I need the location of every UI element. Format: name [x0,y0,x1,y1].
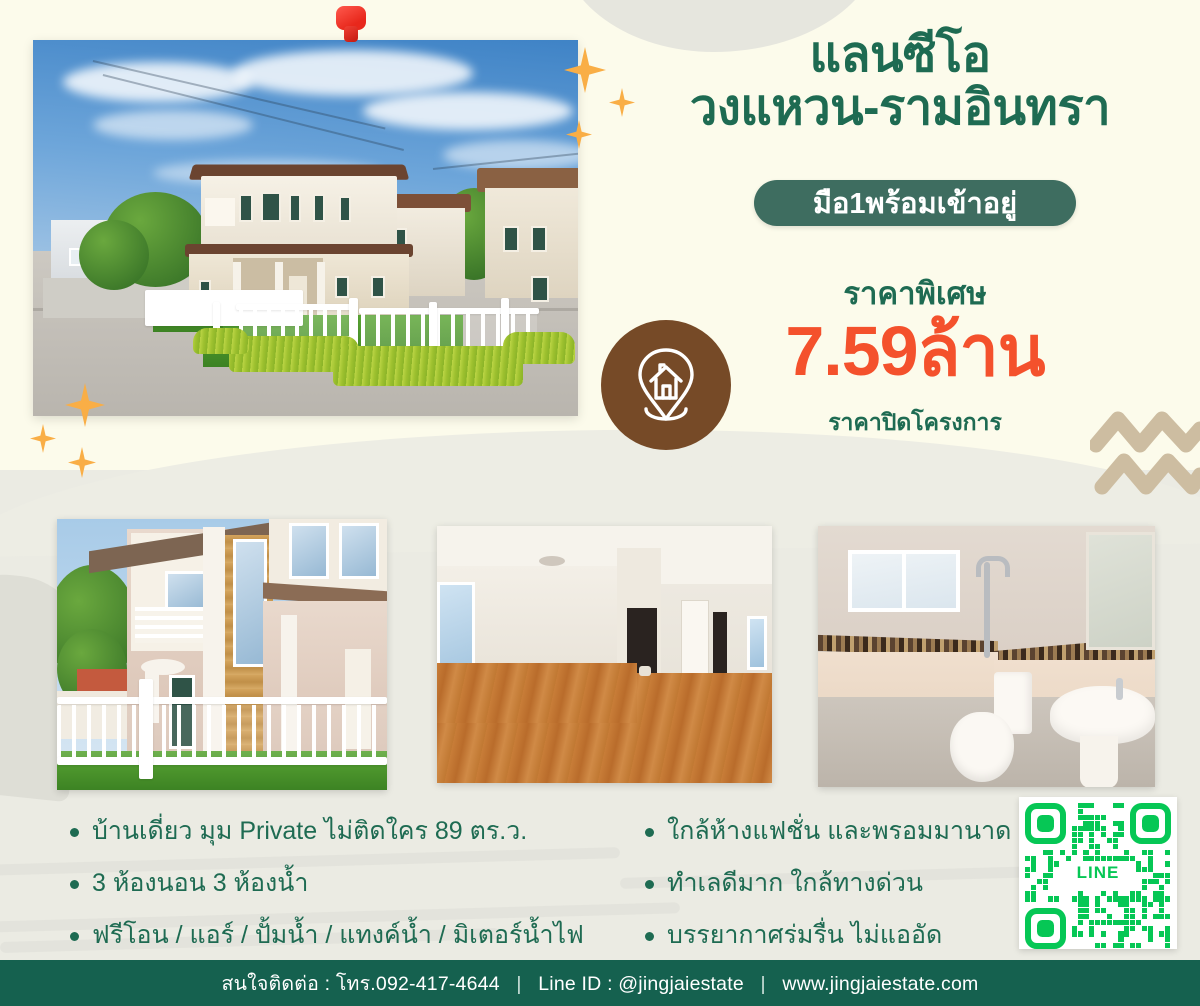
footer-separator: | [505,973,532,996]
photo-exterior-front-gate [57,519,387,790]
bullet-dot-icon [70,880,79,889]
footer-phone: สนใจติดต่อ : โทร.092-417-4644 [222,973,500,995]
poster-root: แลนซีโอ วงแหวน-รามอินทรา มือ1พร้อมเข้าอย… [0,0,1200,1006]
price-value: 7.59ล้าน [700,316,1130,386]
photo-interior-bedroom [437,526,772,783]
price-sublabel: ราคาปิดโครงการ [700,405,1130,441]
line-qr-code[interactable]: LINE [1019,797,1177,949]
footer-contact-line: สนใจติดต่อ : โทร.092-417-4644 | Line ID … [222,968,979,999]
status-badge: มือ1พร้อมเข้าอยู่ [754,180,1076,226]
list-item: ใกล้ห้างแฟชั่น และพรอมมานาด [645,815,1025,847]
project-title-line1: แลนซีโอ [610,30,1190,82]
pushpin-icon [336,6,366,44]
feature-text: ฟรีโอน / แอร์ / ปั้มน้ำ / แทงค์น้ำ / มิเ… [92,919,584,951]
list-item: 3 ห้องนอน 3 ห้องน้ำ [70,867,645,899]
status-badge-label: มือ1พร้อมเข้าอยู่ [813,180,1017,226]
feature-text: บ้านเดี่ยว มุม Private ไม่ติดใคร 89 ตร.ว… [92,815,527,847]
bullet-dot-icon [645,932,654,941]
project-title: แลนซีโอ วงแหวน-รามอินทรา [610,30,1190,136]
bullet-dot-icon [70,932,79,941]
footer-website: www.jingjaiestate.com [782,973,978,995]
footer-separator: | [750,973,777,996]
feature-text: ใกล้ห้างแฟชั่น และพรอมมานาด [667,815,1011,847]
list-item: บ้านเดี่ยว มุม Private ไม่ติดใคร 89 ตร.ว… [70,815,645,847]
photo-interior-bathroom [818,526,1155,787]
project-title-line2: วงแหวน-รามอินทรา [610,82,1190,136]
contact-footer: สนใจติดต่อ : โทร.092-417-4644 | Line ID … [0,960,1200,1006]
list-item: ฟรีโอน / แอร์ / ปั้มน้ำ / แทงค์น้ำ / มิเ… [70,919,645,951]
feature-text: 3 ห้องนอน 3 ห้องน้ำ [92,867,308,899]
feature-text: บรรยากาศร่มรื่น ไม่แออัด [667,919,942,951]
hero-photo-exterior-corner-house [33,40,578,416]
feature-column-left: บ้านเดี่ยว มุม Private ไม่ติดใคร 89 ตร.ว… [70,815,645,971]
house-pin-icon [601,320,731,450]
bullet-dot-icon [70,828,79,837]
feature-column-right: ใกล้ห้างแฟชั่น และพรอมมานาด ทำเลดีมาก ใก… [645,815,1025,971]
feature-text: ทำเลดีมาก ใกล้ทางด่วน [667,867,923,899]
list-item: บรรยากาศร่มรื่น ไม่แออัด [645,919,1025,951]
list-item: ทำเลดีมาก ใกล้ทางด่วน [645,867,1025,899]
price-label: ราคาพิเศษ [700,268,1130,318]
bullet-dot-icon [645,828,654,837]
qr-line-label: LINE [1072,861,1125,885]
footer-line-id: Line ID : @jingjaiestate [538,973,744,995]
bullet-dot-icon [645,880,654,889]
